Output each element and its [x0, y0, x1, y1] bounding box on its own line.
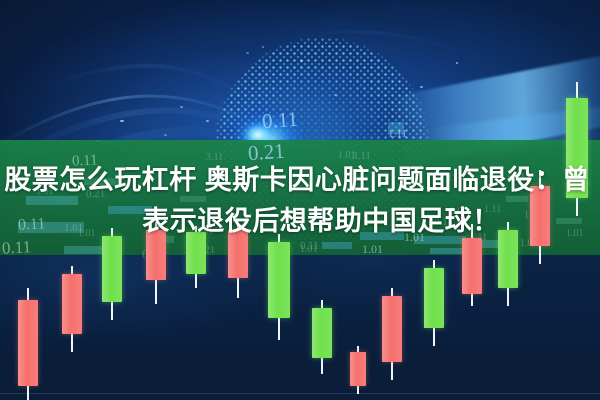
banner-image: 0.110.211.110.111.010.210.111.010.111.01…	[0, 0, 600, 400]
candle-body	[102, 236, 122, 302]
candle-body	[350, 352, 366, 386]
candle-body	[382, 296, 402, 362]
candle-body	[62, 274, 82, 334]
candle-body	[462, 238, 482, 294]
candle-body	[18, 300, 38, 386]
page-title: 股票怎么玩杠杆 奥斯卡因心脏问题面临退役：曾 表示退役后想帮助中国足球！	[0, 160, 600, 242]
candle-body	[312, 308, 332, 358]
headline-line-1: 股票怎么玩杠杆 奥斯卡因心脏问题面临退役：曾	[0, 160, 600, 201]
candle-body	[268, 242, 290, 318]
headline-line-2: 表示退役后想帮助中国足球！	[0, 201, 600, 242]
candle-body	[424, 268, 444, 328]
